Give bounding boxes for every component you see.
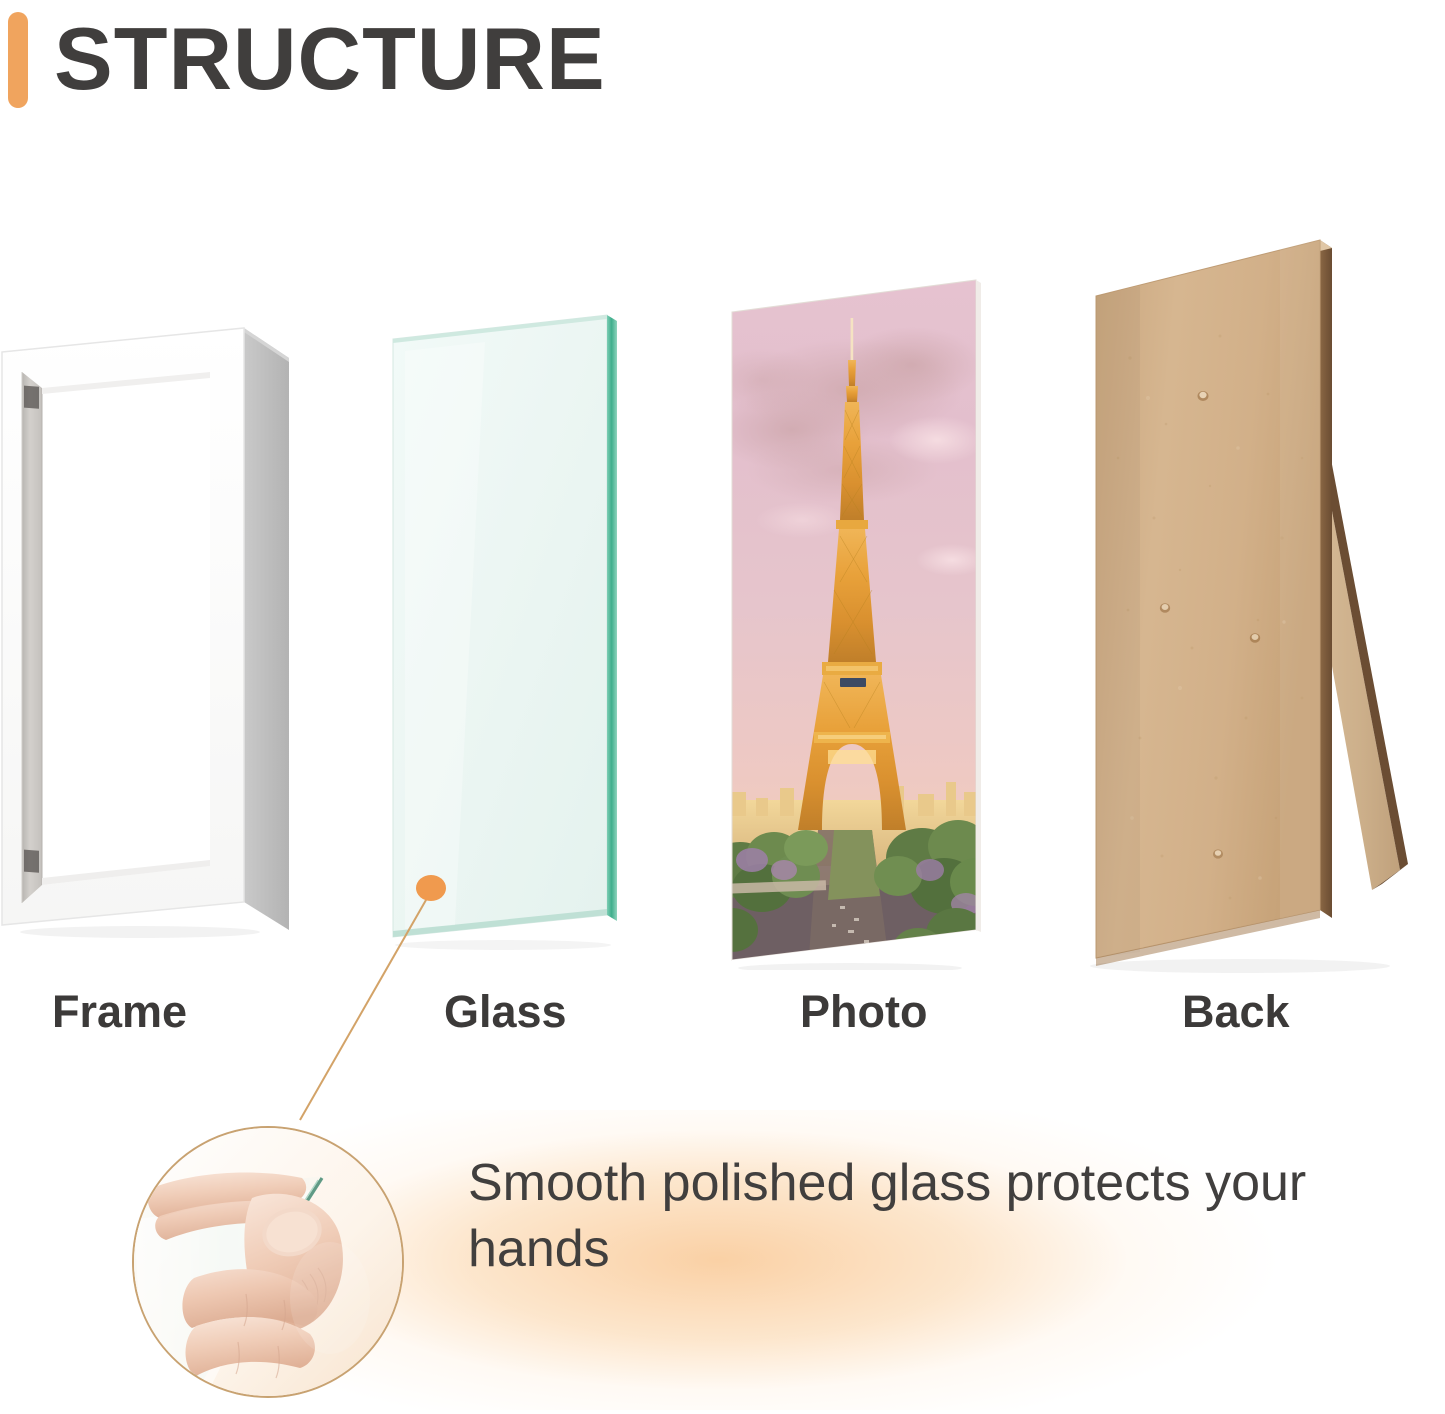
part-labels: Frame Glass Photo Back (0, 985, 1445, 1045)
picture-frame-illustration (0, 310, 310, 950)
label-glass: Glass (444, 985, 567, 1039)
callout-caption: Smooth polished glass protects your hand… (468, 1150, 1308, 1282)
mdf-backboard-illustration (1070, 218, 1430, 978)
part-back (1070, 218, 1430, 978)
callout-section: Smooth polished glass protects your hand… (0, 1050, 1445, 1414)
page-title: STRUCTURE (54, 9, 606, 109)
callout-zoom-circle (132, 1126, 404, 1398)
part-frame (0, 310, 310, 950)
accent-bar (8, 12, 28, 108)
hand-holding-glass-edge (134, 1128, 402, 1396)
eiffel-tower-photo (722, 270, 987, 970)
label-frame: Frame (52, 985, 187, 1039)
header: STRUCTURE (0, 0, 1445, 140)
part-glass (385, 305, 660, 965)
part-photo (722, 270, 987, 970)
parts-row (0, 200, 1445, 980)
label-back: Back (1182, 985, 1290, 1039)
label-photo: Photo (800, 985, 927, 1039)
glass-pane-illustration (385, 305, 660, 965)
